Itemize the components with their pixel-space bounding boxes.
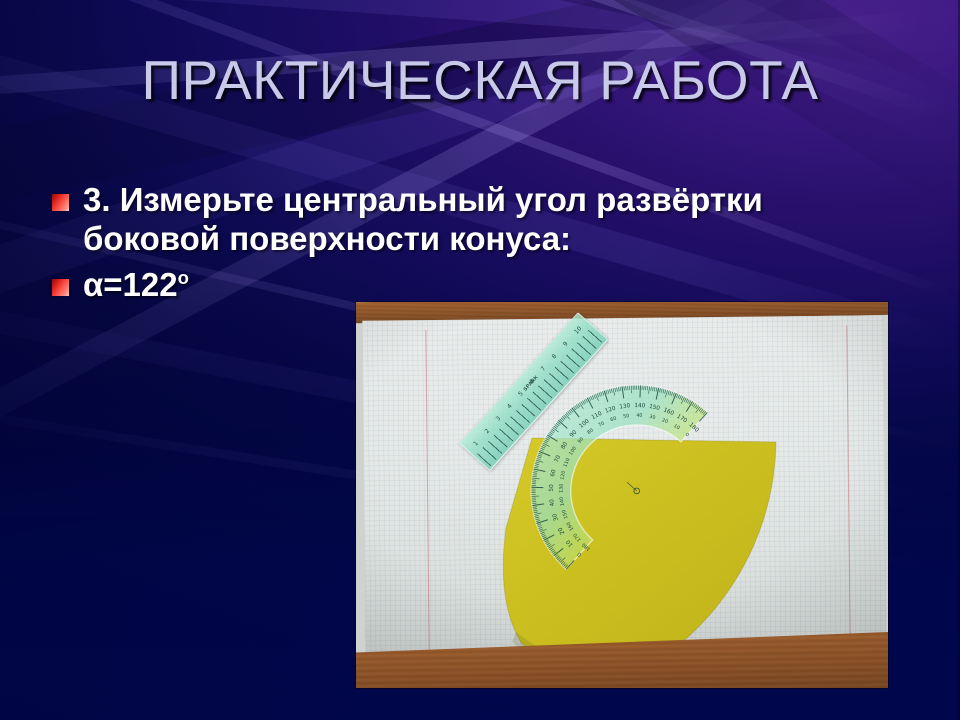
ruler-num: 3 (495, 415, 503, 423)
protractor-assembly: 1 2 3 4 5 6 7 8 9 10 SPARK (468, 337, 750, 542)
ruler-num: 2 (484, 427, 492, 435)
ruler-num: 10 (573, 325, 583, 335)
ruler-num: 9 (562, 340, 570, 348)
list-item: 3. Измерьте центральный угол развёртки б… (52, 180, 897, 259)
answer-text: α=122o (83, 265, 189, 304)
list-item: α=122o (52, 265, 897, 304)
degree-superscript: o (178, 267, 189, 288)
ruler-num: 8 (551, 352, 559, 360)
protractor-label-outer: 50 (549, 483, 555, 491)
ruler-num: 5 (517, 390, 525, 398)
task-text: 3. Измерьте центральный угол развёртки б… (83, 180, 897, 259)
protractor-label-outer: 130 (619, 403, 631, 411)
protractor-center-crosshair (627, 482, 637, 491)
red-square-bullet-icon (52, 194, 69, 211)
red-square-bullet-icon (52, 279, 69, 296)
ruler-num: 1 (472, 440, 480, 448)
protractor-label-inner: 40 (636, 412, 642, 418)
bullet-list: 3. Измерьте центральный угол развёртки б… (52, 180, 897, 310)
slide: ПРАКТИЧЕСКАЯ РАБОТА 3. Измерьте централь… (0, 0, 960, 720)
answer-value: α=122 (83, 266, 178, 303)
page-title: ПРАКТИЧЕСКАЯ РАБОТА (0, 52, 960, 110)
protractor-label-inner: 130 (559, 483, 565, 492)
protractor-center-mark (633, 486, 641, 494)
protractor-label-outer: 140 (634, 403, 645, 409)
ruler-num: 4 (506, 402, 514, 410)
practical-work-photo: 1 2 3 4 5 6 7 8 9 10 SPARK (356, 302, 888, 688)
protractor-label-inner: 50 (623, 413, 630, 420)
ruler-num: 7 (540, 365, 548, 373)
